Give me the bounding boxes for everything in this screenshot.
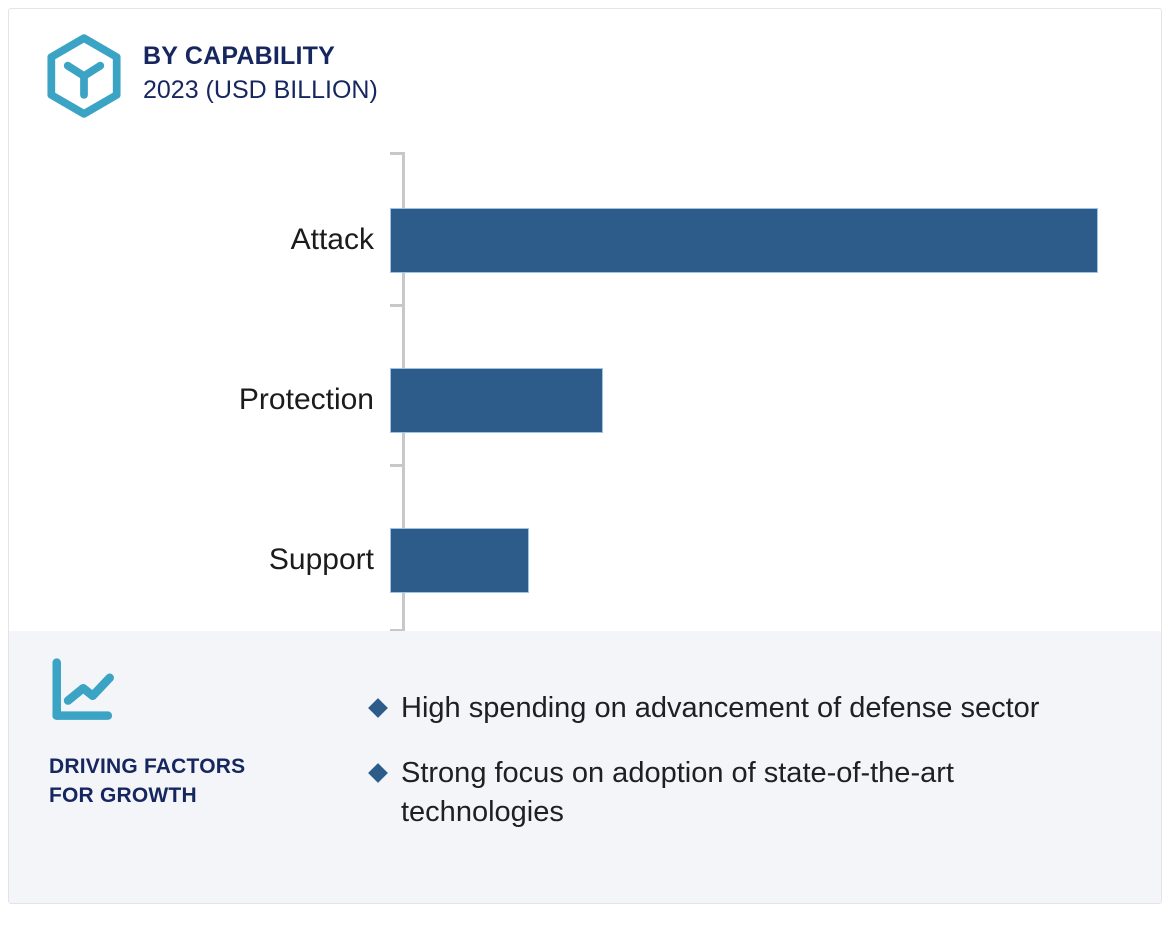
list-item: Strong focus on adoption of state-of-the… — [367, 754, 1127, 832]
driving-factor-text: Strong focus on adoption of state-of-the… — [401, 754, 1101, 832]
page-subtitle: 2023 (USD BILLION) — [143, 75, 378, 105]
driving-factors-panel: DRIVING FACTORS FOR GROWTH High spending… — [9, 631, 1162, 904]
bar-row-attack: Attack — [9, 164, 1162, 316]
diamond-bullet-icon — [367, 698, 389, 720]
driving-factors-list: High spending on advancement of defense … — [367, 689, 1127, 858]
panel-left-column: DRIVING FACTORS FOR GROWTH — [49, 657, 339, 811]
driving-factor-text: High spending on advancement of defense … — [401, 689, 1039, 728]
bar-row-support: Support — [9, 484, 1162, 636]
trend-chart-icon — [49, 657, 125, 727]
card-header: BY CAPABILITY 2023 (USD BILLION) — [41, 31, 378, 119]
hexagon-y-icon — [41, 33, 127, 119]
header-text-block: BY CAPABILITY 2023 (USD BILLION) — [143, 42, 378, 105]
bar-row-protection: Protection — [9, 324, 1162, 476]
bar-protection[interactable] — [390, 368, 603, 433]
diamond-bullet-icon — [367, 763, 389, 785]
bar-label-attack: Attack — [9, 225, 394, 255]
page-title: BY CAPABILITY — [143, 42, 378, 72]
bar-label-protection: Protection — [9, 385, 394, 415]
infographic-card: BY CAPABILITY 2023 (USD BILLION) Attack … — [8, 8, 1162, 904]
list-item: High spending on advancement of defense … — [367, 689, 1127, 728]
bar-support[interactable] — [390, 528, 529, 593]
panel-title-line-2: FOR GROWTH — [49, 782, 339, 811]
panel-title-line-1: DRIVING FACTORS — [49, 753, 339, 782]
bar-attack[interactable] — [390, 208, 1098, 273]
axis-tick — [390, 152, 403, 155]
panel-title: DRIVING FACTORS FOR GROWTH — [49, 753, 339, 811]
bar-label-support: Support — [9, 545, 394, 575]
bar-chart: Attack Protection Support — [9, 144, 1162, 639]
